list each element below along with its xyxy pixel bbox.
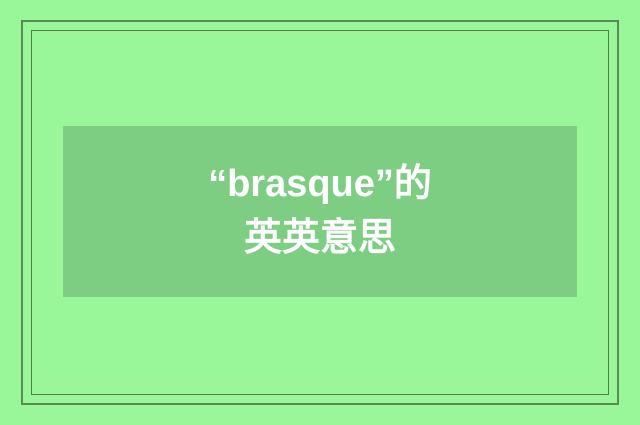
title-panel: “brasque”的英英意思 <box>63 126 577 297</box>
page-title: “brasque”的英英意思 <box>206 158 434 266</box>
